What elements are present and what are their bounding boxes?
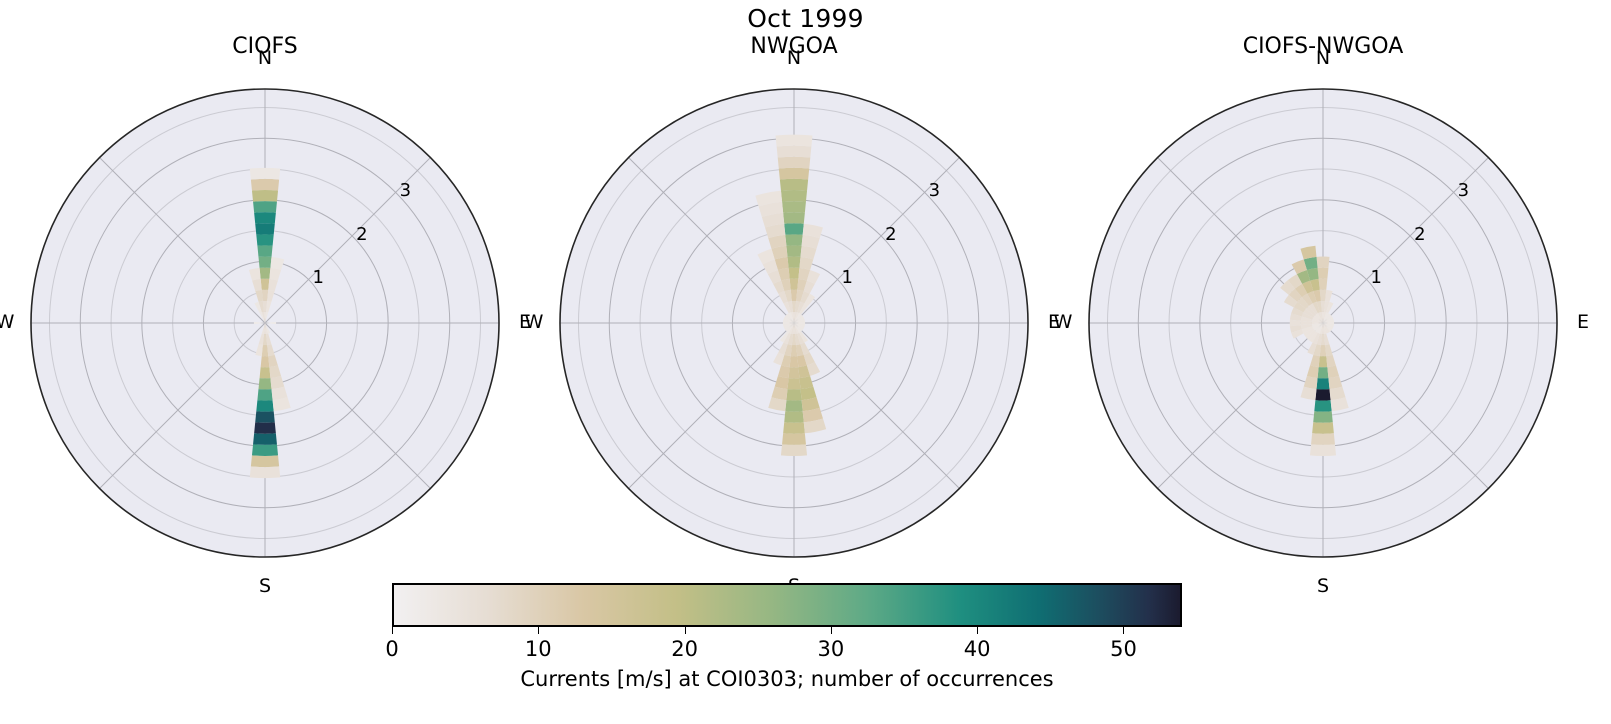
radial-tick-label: 2: [356, 224, 367, 245]
rose-bin: [784, 223, 804, 235]
rose-bin: [789, 367, 800, 378]
rose-bin: [776, 135, 813, 147]
rose-bin: [252, 444, 278, 456]
rose-bin: [1311, 433, 1335, 445]
radial-tick-label: 3: [1458, 180, 1469, 201]
rose-bin: [782, 433, 806, 445]
polar-panel-ciofs-nwgoa: CIOFS-NWGOANESW123: [1037, 0, 1609, 600]
rose-bin: [253, 201, 277, 213]
polar-panel-nwgoa: NWGOANESW123: [508, 0, 1080, 600]
figure-canvas: Oct 1999 CIOFSNESW123NWGOANESW123CIOFS-N…: [0, 0, 1611, 724]
rose-bin: [789, 268, 800, 279]
polar-panel-ciofs: CIOFSNESW123: [0, 0, 551, 600]
direction-label-west: W: [1047, 311, 1079, 333]
rose-bin: [251, 179, 279, 191]
rose-bin: [254, 212, 276, 224]
rose-bin: [260, 268, 271, 279]
rose-bin: [785, 234, 802, 245]
radial-tick-label: 1: [842, 267, 853, 288]
rose-bin: [786, 245, 801, 256]
rose-bin: [255, 411, 275, 423]
rose-bin: [787, 256, 800, 267]
radial-tick-label: 3: [929, 180, 940, 201]
colorbar-tick: [685, 627, 686, 634]
rose-bin: [253, 433, 277, 445]
rose-bin: [1319, 356, 1328, 367]
rose-bin: [262, 345, 269, 356]
rose-bin: [258, 256, 271, 267]
rose-bin: [1318, 367, 1329, 378]
rose-bin: [791, 345, 798, 356]
rose-bin: [790, 356, 799, 367]
radial-tick-label: 3: [400, 180, 411, 201]
colorbar-tick: [1123, 627, 1124, 634]
rose-bin: [783, 422, 805, 434]
rose-bin: [1316, 256, 1329, 267]
rose-bin: [781, 190, 807, 202]
direction-label-west: W: [518, 311, 550, 333]
colorbar-tick-label: 0: [385, 637, 398, 661]
rose-bin: [251, 455, 279, 467]
rose-bin: [778, 157, 811, 169]
colorbar-tick: [392, 627, 393, 634]
rose-bin: [780, 179, 808, 191]
rose-bin: [262, 290, 269, 301]
colorbar-tick-label: 10: [525, 637, 552, 661]
rose-bin: [787, 378, 800, 389]
rose-bin: [1312, 422, 1334, 434]
rose-bin: [1290, 320, 1301, 327]
rose-bin: [1320, 345, 1327, 356]
colorbar-tick-label: 30: [818, 637, 845, 661]
direction-label-south: S: [1307, 575, 1339, 597]
rose-bin: [785, 400, 802, 411]
rose-bin: [250, 466, 280, 478]
rose-bin: [254, 422, 276, 434]
rose-bin: [256, 234, 273, 245]
direction-label-north: N: [1307, 47, 1339, 69]
rose-bin: [777, 146, 812, 158]
colorbar-tick-label: 50: [1110, 637, 1137, 661]
rose-bin: [1318, 268, 1329, 279]
polar-axes: [0, 37, 551, 609]
rose-bin: [256, 400, 273, 411]
colorbar-tick: [977, 627, 978, 634]
polar-axes: [508, 37, 1080, 609]
rose-bin: [260, 367, 271, 378]
rose-bin: [1314, 400, 1331, 411]
rose-bin: [784, 411, 804, 423]
rose-bin: [261, 279, 270, 290]
rose-bin: [1316, 378, 1329, 389]
rose-bin: [258, 378, 271, 389]
direction-label-north: N: [778, 47, 810, 69]
rose-bin: [1315, 389, 1330, 400]
rose-bin: [252, 190, 278, 202]
colorbar-tick-label: 40: [964, 637, 991, 661]
direction-label-north: N: [249, 47, 281, 69]
direction-label-east: E: [1567, 311, 1599, 333]
rose-bin: [783, 212, 805, 224]
radial-tick-label: 2: [1414, 224, 1425, 245]
rose-bin: [250, 168, 280, 180]
direction-label-west: W: [0, 311, 21, 333]
rose-bin: [257, 389, 272, 400]
colorbar-tick-label: 20: [671, 637, 698, 661]
rose-bin: [779, 168, 809, 180]
rose-bin: [782, 201, 806, 213]
radial-tick-label: 1: [1371, 267, 1382, 288]
colorbar-gradient: [392, 583, 1182, 627]
rose-bin: [255, 223, 275, 235]
rose-bin: [261, 356, 270, 367]
rose-bin: [257, 245, 272, 256]
rose-bin: [1313, 411, 1333, 423]
rose-bin: [786, 389, 801, 400]
radial-tick-label: 2: [885, 224, 896, 245]
rose-bin: [781, 444, 807, 456]
rose-bin: [1310, 444, 1336, 456]
rose-bin: [1320, 290, 1327, 301]
radial-tick-label: 1: [313, 267, 324, 288]
colorbar-tick: [538, 627, 539, 634]
polar-axes: [1037, 37, 1609, 609]
rose-bin: [790, 279, 799, 290]
colorbar-tick: [831, 627, 832, 634]
direction-label-south: S: [249, 575, 281, 597]
rose-bin: [791, 290, 798, 301]
colorbar-axis-label: Currents [m/s] at COI0303; number of occ…: [392, 667, 1182, 691]
rose-bin: [1319, 279, 1328, 290]
